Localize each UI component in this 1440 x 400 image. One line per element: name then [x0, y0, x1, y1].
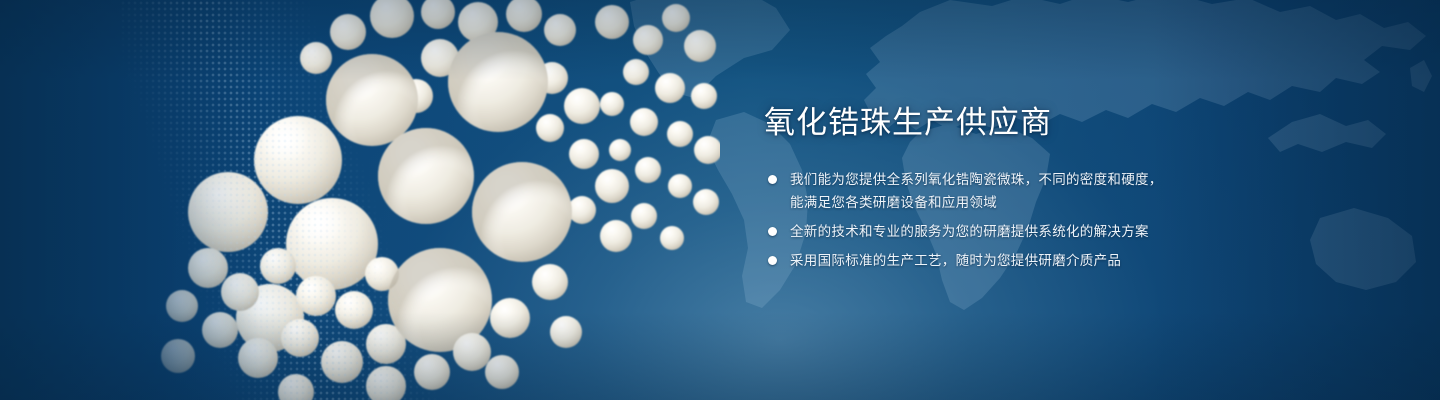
- feature-list: 我们能为您提供全系列氧化锆陶瓷微珠，不同的密度和硬度， 能满足您各类研磨设备和应…: [764, 168, 1234, 272]
- list-item: 采用国际标准的生产工艺，随时为您提供研磨介质产品: [764, 249, 1234, 272]
- banner-copy: 氧化锆珠生产供应商 我们能为您提供全系列氧化锆陶瓷微珠，不同的密度和硬度， 能满…: [764, 104, 1234, 272]
- list-item-line: 全新的技术和专业的服务为您的研磨提供系统化的解决方案: [790, 220, 1234, 243]
- hero-banner: 氧化锆珠生产供应商 我们能为您提供全系列氧化锆陶瓷微珠，不同的密度和硬度， 能满…: [0, 0, 1440, 400]
- page-title: 氧化锆珠生产供应商: [764, 104, 1234, 142]
- list-item: 我们能为您提供全系列氧化锆陶瓷微珠，不同的密度和硬度， 能满足您各类研磨设备和应…: [764, 168, 1234, 214]
- list-item: 全新的技术和专业的服务为您的研磨提供系统化的解决方案: [764, 220, 1234, 243]
- list-item-line: 能满足您各类研磨设备和应用领域: [790, 191, 1234, 214]
- bullet-dot-icon: [768, 175, 777, 184]
- bullet-dot-icon: [768, 227, 777, 236]
- bullet-dot-icon: [768, 256, 777, 265]
- list-item-line: 我们能为您提供全系列氧化锆陶瓷微珠，不同的密度和硬度，: [790, 168, 1234, 191]
- list-item-line: 采用国际标准的生产工艺，随时为您提供研磨介质产品: [790, 249, 1234, 272]
